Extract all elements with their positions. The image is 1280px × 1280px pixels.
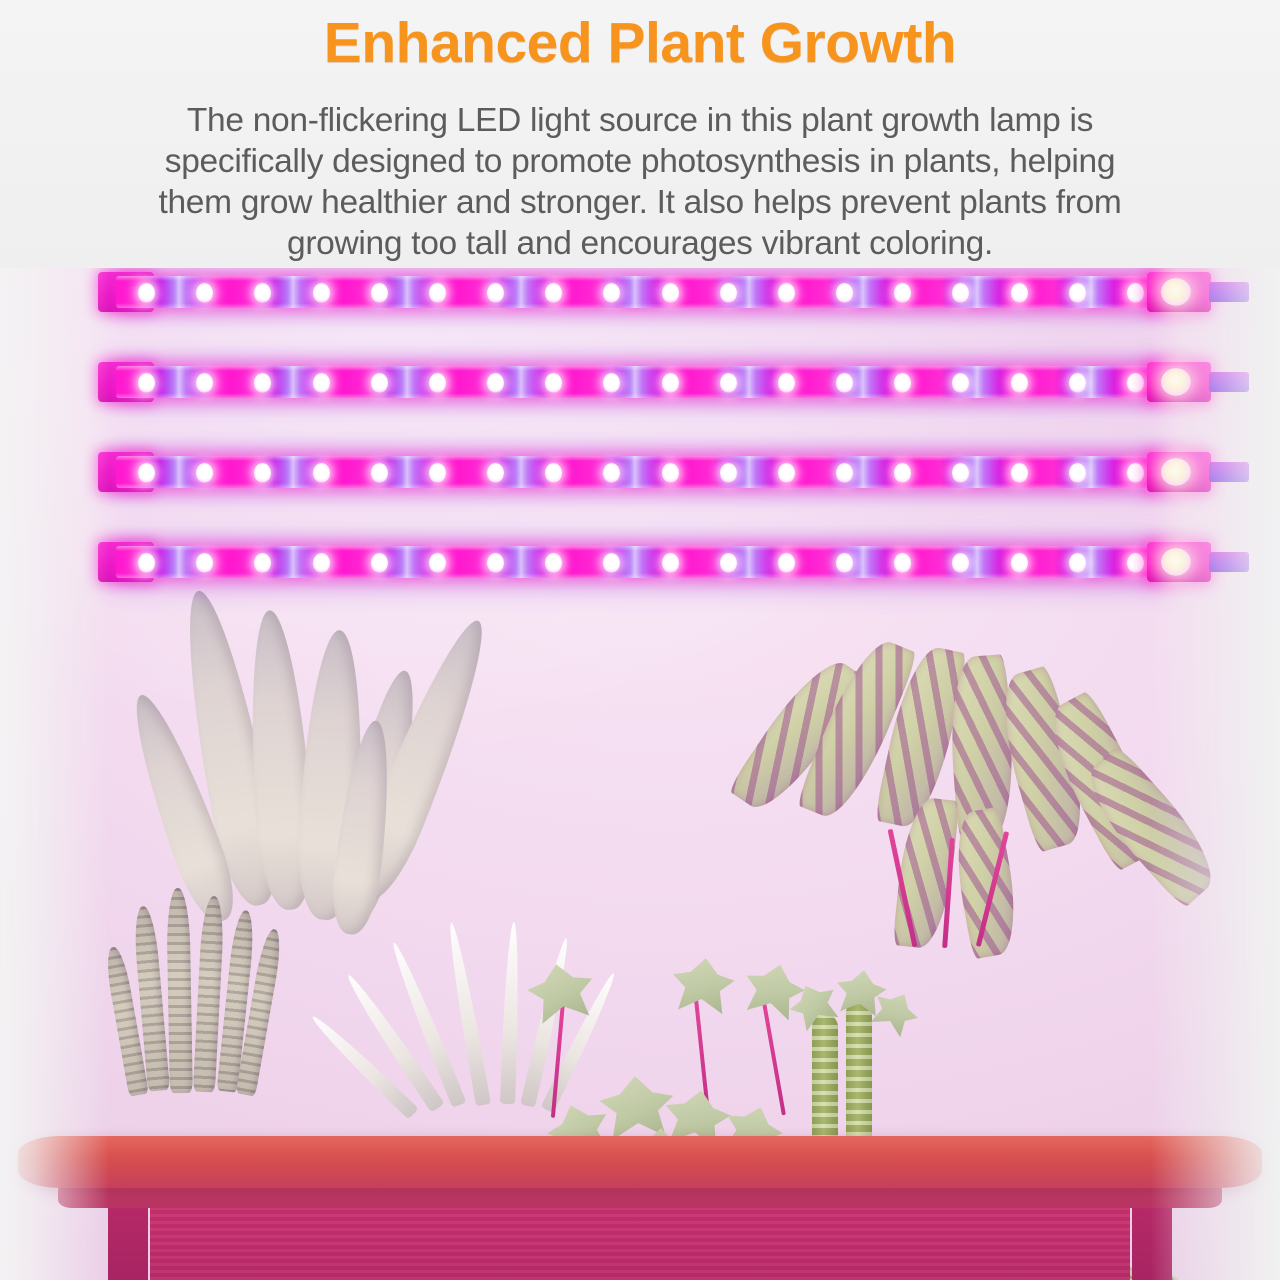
led-dot-icon: [720, 463, 737, 483]
led-dot-icon: [545, 283, 562, 303]
endcap-led-glow-icon: [1161, 548, 1191, 576]
led-dot-icon: [662, 373, 679, 393]
led-row: [116, 276, 1161, 308]
led-row: [116, 546, 1161, 578]
led-dot-icon: [138, 373, 155, 393]
led-dot-icon: [1011, 463, 1028, 483]
led-row: [116, 366, 1161, 398]
product-feature-image: Enhanced Plant Growth The non-flickering…: [0, 0, 1280, 1280]
led-dot-icon: [894, 463, 911, 483]
led-dot-icon: [603, 373, 620, 393]
led-dot-icon: [778, 283, 795, 303]
table-top: [18, 1136, 1262, 1188]
led-dot-icon: [720, 283, 737, 303]
led-dot-icon: [196, 373, 213, 393]
endcap-led-glow-icon: [1161, 278, 1191, 306]
led-dot-icon: [1069, 373, 1086, 393]
led-dot-icon: [720, 553, 737, 573]
led-dot-icon: [952, 463, 969, 483]
led-dot-icon: [1127, 553, 1144, 573]
led-dot-icon: [662, 463, 679, 483]
description-line-4: growing too tall and encourages vibrant …: [52, 223, 1228, 264]
table-apron: [150, 1200, 1130, 1280]
led-dot-icon: [254, 553, 271, 573]
led-dot-icon: [952, 283, 969, 303]
led-dot-icon: [371, 463, 388, 483]
led-dot-icon: [313, 373, 330, 393]
led-dot-icon: [429, 553, 446, 573]
led-dot-icon: [545, 373, 562, 393]
led-dot-icon: [894, 373, 911, 393]
led-dot-icon: [196, 283, 213, 303]
led-dot-icon: [138, 283, 155, 303]
led-dot-icon: [487, 283, 504, 303]
led-dot-icon: [254, 373, 271, 393]
led-dot-icon: [778, 553, 795, 573]
led-dot-icon: [545, 553, 562, 573]
led-dot-icon: [429, 373, 446, 393]
description-paragraph: The non-flickering LED light source in t…: [52, 100, 1228, 264]
led-dot-icon: [1011, 553, 1028, 573]
endcap-led-glow-icon: [1161, 458, 1191, 486]
led-dot-icon: [1011, 283, 1028, 303]
grow-light-bar-1: [98, 272, 1253, 312]
led-dot-icon: [1069, 283, 1086, 303]
endcap-led-glow-icon: [1161, 368, 1191, 396]
led-dot-icon: [720, 373, 737, 393]
bar-right-endcap: [1147, 362, 1211, 402]
description-line-1: The non-flickering LED light source in t…: [52, 100, 1228, 141]
led-dot-icon: [429, 463, 446, 483]
led-dot-icon: [952, 373, 969, 393]
led-dot-icon: [662, 553, 679, 573]
led-dot-icon: [1127, 283, 1144, 303]
led-dot-icon: [603, 463, 620, 483]
grow-light-bar-3: [98, 452, 1253, 492]
led-dot-icon: [1069, 463, 1086, 483]
led-dot-icon: [778, 373, 795, 393]
led-dot-icon: [603, 283, 620, 303]
grow-light-bar-4: [98, 542, 1253, 582]
led-dot-icon: [487, 463, 504, 483]
led-dot-icon: [952, 553, 969, 573]
led-dot-icon: [196, 553, 213, 573]
led-dot-icon: [836, 553, 853, 573]
led-dot-icon: [1069, 553, 1086, 573]
header-band: Enhanced Plant Growth The non-flickering…: [0, 0, 1280, 268]
led-dot-icon: [487, 373, 504, 393]
led-dot-icon: [836, 283, 853, 303]
led-dot-icon: [138, 463, 155, 483]
description-line-2: specifically designed to promote photosy…: [52, 141, 1228, 182]
led-dot-icon: [894, 553, 911, 573]
grow-light-bar-2: [98, 362, 1253, 402]
product-photo: [0, 258, 1280, 1280]
bar-connector-tab: [1209, 282, 1249, 302]
led-dot-icon: [429, 283, 446, 303]
led-dot-icon: [138, 553, 155, 573]
page-title: Enhanced Plant Growth: [0, 14, 1280, 74]
led-dot-icon: [254, 463, 271, 483]
led-dot-icon: [1127, 373, 1144, 393]
led-dot-icon: [313, 283, 330, 303]
led-dot-icon: [778, 463, 795, 483]
led-dot-icon: [371, 283, 388, 303]
led-row: [116, 456, 1161, 488]
led-dot-icon: [313, 553, 330, 573]
led-dot-icon: [371, 373, 388, 393]
led-dot-icon: [487, 553, 504, 573]
led-dot-icon: [1127, 463, 1144, 483]
led-dot-icon: [894, 283, 911, 303]
bar-right-endcap: [1147, 272, 1211, 312]
led-dot-icon: [545, 463, 562, 483]
led-dot-icon: [313, 463, 330, 483]
bar-connector-tab: [1209, 372, 1249, 392]
led-dot-icon: [196, 463, 213, 483]
led-dot-icon: [603, 553, 620, 573]
led-dot-icon: [1011, 373, 1028, 393]
bar-connector-tab: [1209, 552, 1249, 572]
led-dot-icon: [836, 463, 853, 483]
bar-right-endcap: [1147, 542, 1211, 582]
description-line-3: them grow healthier and stronger. It als…: [52, 182, 1228, 223]
led-dot-icon: [371, 553, 388, 573]
bar-right-endcap: [1147, 452, 1211, 492]
led-dot-icon: [836, 373, 853, 393]
bar-connector-tab: [1209, 462, 1249, 482]
led-dot-icon: [662, 283, 679, 303]
led-dot-icon: [254, 283, 271, 303]
